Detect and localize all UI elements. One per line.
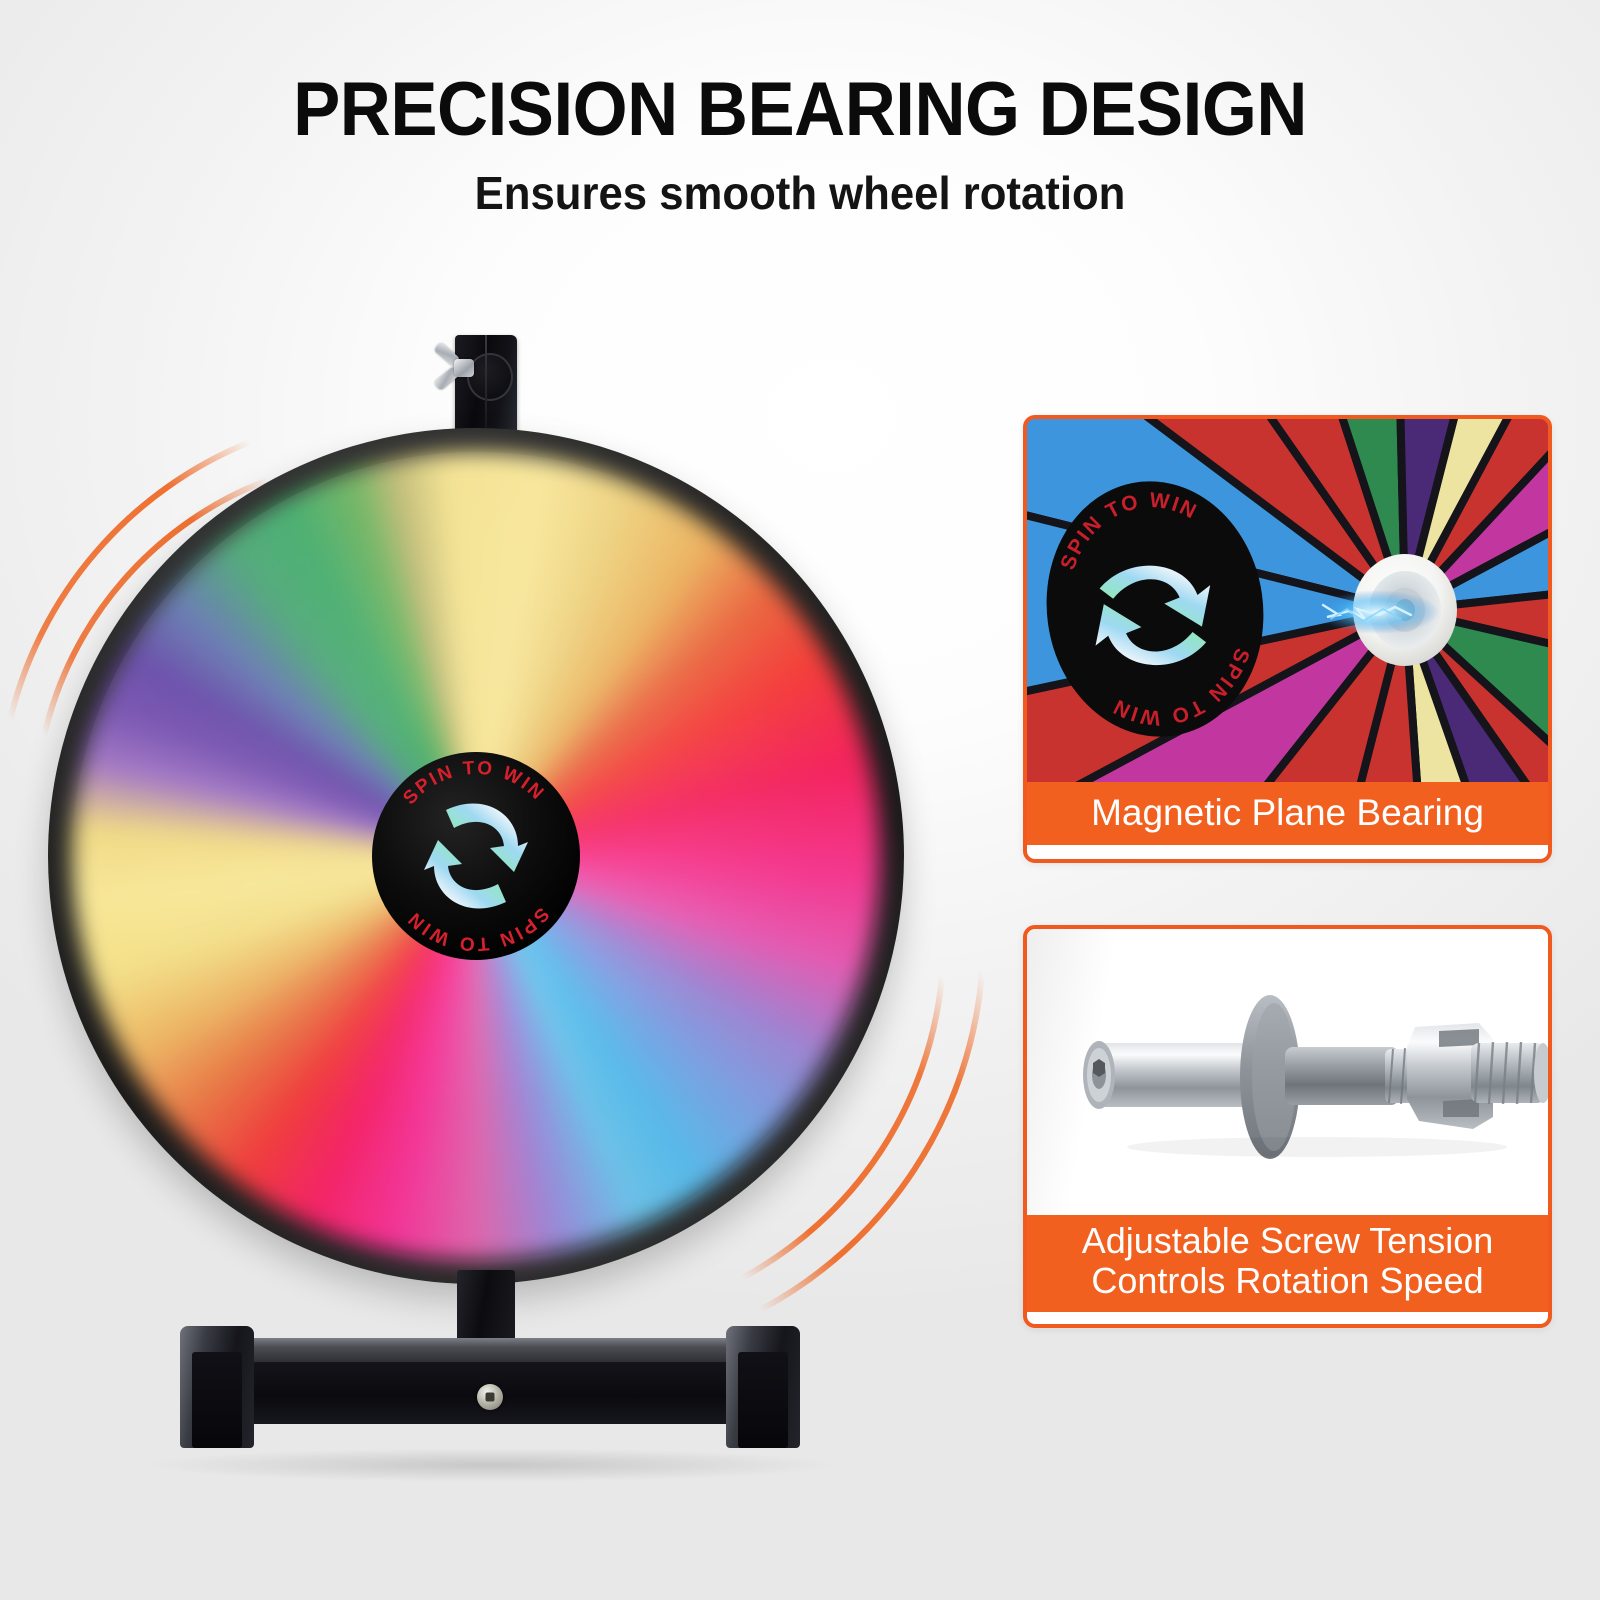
base-foot-left (180, 1326, 254, 1448)
screw-illustration (1083, 995, 1548, 1159)
panel-magnetic-plane-bearing[interactable]: SPIN TO WIN SPIN TO WIN (1023, 415, 1552, 863)
wheel-hub-label: SPIN TO WIN SPIN TO WIN (368, 748, 584, 964)
magnetic-spark-icon (1315, 590, 1439, 634)
base-shadow (140, 1448, 840, 1482)
header: PRECISION BEARING DESIGN Ensures smooth … (0, 0, 1600, 216)
panel-caption-magnetic: Magnetic Plane Bearing (1027, 782, 1548, 845)
panel-caption-screw-line1: Adjustable Screw Tension (1031, 1221, 1544, 1261)
magnetic-bearing-photo: SPIN TO WIN SPIN TO WIN (1027, 419, 1548, 782)
tension-screw-photo (1027, 929, 1548, 1215)
panel-caption-screw-line2: Controls Rotation Speed (1031, 1261, 1544, 1301)
panel-adjustable-screw-tension[interactable]: Adjustable Screw Tension Controls Rotati… (1023, 925, 1552, 1328)
page-subtitle: Ensures smooth wheel rotation (40, 170, 1560, 216)
base-top-bar (216, 1338, 764, 1364)
wheel-rim[interactable]: SPIN TO WIN SPIN TO WIN (48, 428, 904, 1284)
panel-caption-screw: Adjustable Screw Tension Controls Rotati… (1027, 1215, 1548, 1312)
prize-wheel-assembly: SPIN TO WIN SPIN TO WIN (0, 300, 1010, 1560)
wheel-base (180, 1322, 800, 1462)
wing-nut-icon (434, 348, 476, 388)
page-title: PRECISION BEARING DESIGN (56, 72, 1544, 148)
bracket-seam (485, 335, 487, 435)
product-feature-image: PRECISION BEARING DESIGN Ensures smooth … (0, 0, 1600, 1600)
base-foot-right (726, 1326, 800, 1448)
base-screw-icon (477, 1384, 503, 1410)
